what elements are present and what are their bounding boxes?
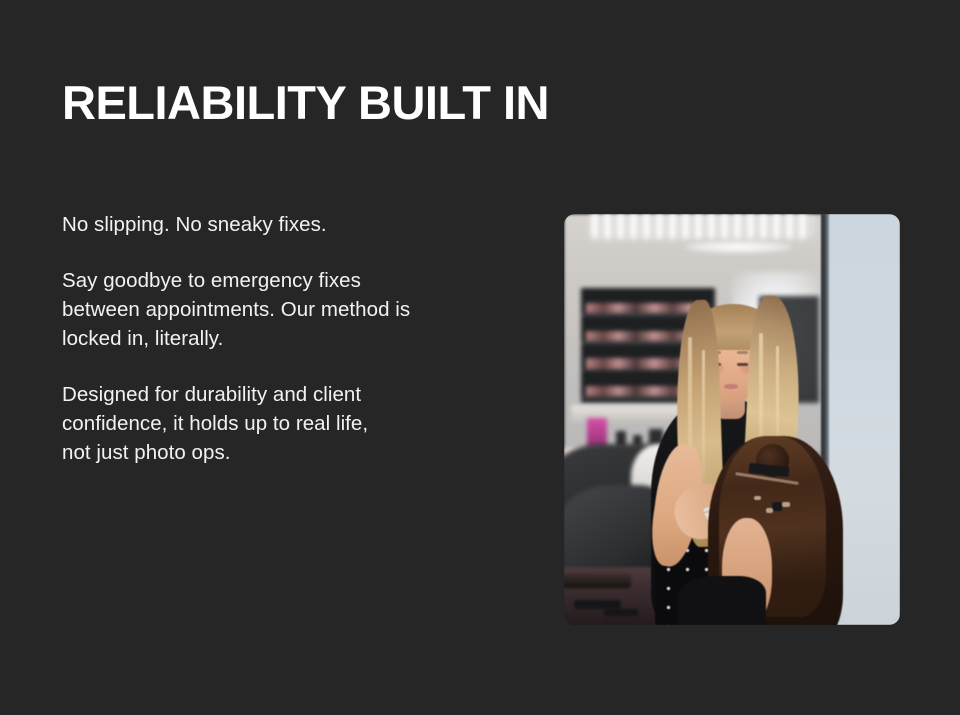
salon-photo-illustration bbox=[564, 214, 900, 625]
paragraph-line: not just photo ops. bbox=[62, 438, 492, 467]
paragraph-line: between appointments. Our method is bbox=[62, 295, 492, 324]
page-title: RELIABILITY BUILT IN bbox=[62, 78, 549, 127]
slide: RELIABILITY BUILT IN No slipping. No sne… bbox=[0, 0, 960, 715]
client-shoulder bbox=[678, 576, 765, 625]
paragraph-durability: Designed for durability and client confi… bbox=[62, 380, 492, 467]
paragraph-line: confidence, it holds up to real life, bbox=[62, 409, 492, 438]
salon-photo bbox=[564, 214, 900, 625]
neon-sign-icon bbox=[591, 214, 813, 239]
stylist-lips bbox=[724, 384, 738, 389]
paragraph-line: locked in, literally. bbox=[62, 324, 492, 353]
paragraph-line: Say goodbye to emergency fixes bbox=[62, 266, 492, 295]
stylist-brow bbox=[737, 351, 748, 354]
styling-tool bbox=[574, 600, 621, 609]
styling-tool bbox=[564, 574, 631, 588]
paragraph-emergency-fixes: Say goodbye to emergency fixes between a… bbox=[62, 266, 492, 353]
paragraph-line: No slipping. No sneaky fixes. bbox=[62, 210, 492, 239]
body-copy: No slipping. No sneaky fixes. Say goodby… bbox=[62, 210, 492, 467]
styling-tool bbox=[604, 609, 638, 616]
ceiling-light-icon bbox=[685, 241, 793, 253]
stylist-eye bbox=[737, 363, 748, 366]
hair-clip-icon bbox=[772, 502, 782, 511]
paragraph-line: Designed for durability and client bbox=[62, 380, 492, 409]
paragraph-lead: No slipping. No sneaky fixes. bbox=[62, 210, 492, 239]
